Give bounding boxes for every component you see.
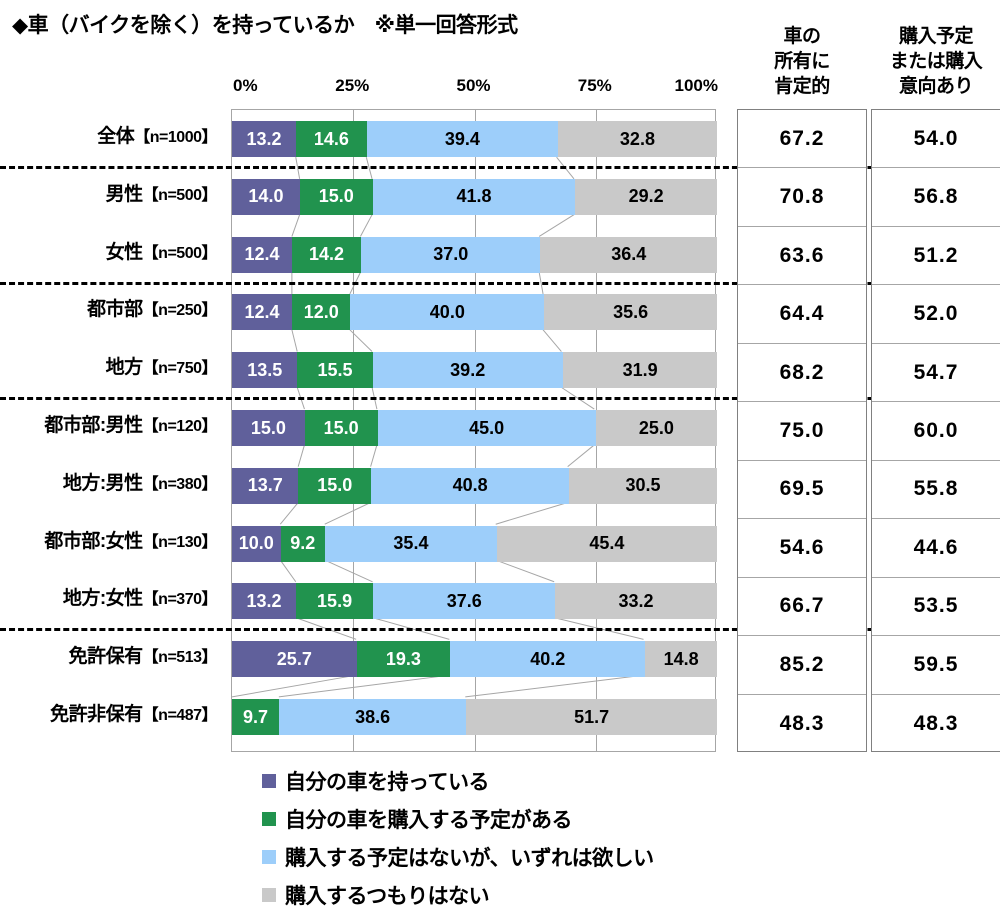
bar-segment: 13.7 <box>232 468 298 504</box>
bar-segment-value: 32.8 <box>620 129 655 150</box>
bar-segment: 9.2 <box>281 526 326 562</box>
value-cell-own-positive: 68.2 <box>738 344 866 402</box>
bar-segment: 13.2 <box>232 583 296 619</box>
value-table-own-positive: 67.270.863.664.468.275.069.554.666.785.2… <box>737 109 867 752</box>
bar-segment-value: 41.8 <box>456 186 491 207</box>
bar-segment: 45.0 <box>378 410 596 446</box>
bar-segment: 31.9 <box>563 352 718 388</box>
bar-segment: 10.0 <box>232 526 281 562</box>
value-cell-own-positive: 85.2 <box>738 636 866 694</box>
bar-row: 15.015.045.025.0 <box>232 410 717 446</box>
column-header-own-positive-line2: 所有に <box>737 49 867 74</box>
bar-segment-value: 15.0 <box>317 475 352 496</box>
bar-segment: 41.8 <box>373 179 576 215</box>
legend-item[interactable]: 購入するつもりはない <box>262 876 782 914</box>
value-cell-purchase-intent: 55.8 <box>872 461 1000 519</box>
value-cell-purchase-intent: 53.5 <box>872 578 1000 636</box>
value-cell-own-positive: 67.2 <box>738 110 866 168</box>
value-cell-purchase-intent: 60.0 <box>872 402 1000 460</box>
bar-segment-value: 9.2 <box>290 533 315 554</box>
bar-segment-value: 45.4 <box>589 533 624 554</box>
category-label: 男性【n=500】 <box>106 185 217 204</box>
legend: 自分の車を持っている自分の車を購入する予定がある購入する予定はないが、いずれは欲… <box>262 762 782 914</box>
bar-segment: 30.5 <box>569 468 717 504</box>
x-axis-tick-label: 100% <box>675 76 718 96</box>
legend-label: 自分の車を購入する予定がある <box>285 804 572 834</box>
page-title: ◆車（バイクを除く）を持っているか ※単一回答形式 <box>12 9 518 39</box>
bar-row: 10.09.235.445.4 <box>232 526 717 562</box>
value-cell-purchase-intent: 54.0 <box>872 110 1000 168</box>
bar-segment: 25.7 <box>232 641 357 677</box>
value-cell-own-positive: 48.3 <box>738 695 866 753</box>
bar-row: 12.414.237.036.4 <box>232 237 717 273</box>
bar-segment: 39.4 <box>367 121 558 157</box>
bar-segment: 32.8 <box>558 121 717 157</box>
bar-segment: 13.2 <box>232 121 296 157</box>
category-axis-labels: 全体【n=1000】男性【n=500】女性【n=500】都市部【n=250】地方… <box>0 109 225 752</box>
bar-row: 14.015.041.829.2 <box>232 179 717 215</box>
bar-segment-value: 29.2 <box>629 186 664 207</box>
bar-segment: 35.4 <box>325 526 497 562</box>
bar-segment-value: 14.2 <box>309 244 344 265</box>
value-cell-purchase-intent: 44.6 <box>872 519 1000 577</box>
value-table-purchase-intent: 54.056.851.252.054.760.055.844.653.559.5… <box>871 109 1000 752</box>
x-axis-tick-label: 0% <box>233 76 258 96</box>
bar-segment: 13.5 <box>232 352 297 388</box>
category-label: 免許保有【n=513】 <box>69 647 217 666</box>
legend-item[interactable]: 購入する予定はないが、いずれは欲しい <box>262 838 782 876</box>
bar-segment-value: 15.9 <box>317 591 352 612</box>
bar-segment: 40.8 <box>371 468 569 504</box>
bar-row: 13.715.040.830.5 <box>232 468 717 504</box>
column-header-own-positive: 車の 所有に 肯定的 <box>737 24 867 99</box>
bar-segment: 14.8 <box>645 641 717 677</box>
value-cell-own-positive: 63.6 <box>738 227 866 285</box>
bar-segment-value: 37.0 <box>433 244 468 265</box>
column-header-own-positive-line3: 肯定的 <box>737 74 867 99</box>
bar-row: 13.214.639.432.8 <box>232 121 717 157</box>
bar-segment-value: 9.7 <box>243 707 268 728</box>
column-header-purchase-intent-line2: または購入 <box>871 49 1000 74</box>
value-cell-own-positive: 64.4 <box>738 285 866 343</box>
bar-segment-value: 14.6 <box>314 129 349 150</box>
bar-segment-value: 45.0 <box>469 418 504 439</box>
bar-segment-value: 25.7 <box>277 649 312 670</box>
bar-segment-value: 13.2 <box>246 591 281 612</box>
category-label: 都市部【n=250】 <box>87 300 217 319</box>
bar-segment: 14.0 <box>232 179 300 215</box>
bar-segment: 36.4 <box>540 237 717 273</box>
column-header-purchase-intent: 購入予定 または購入 意向あり <box>871 24 1000 99</box>
bar-segment-value: 51.7 <box>574 707 609 728</box>
bar-segment-value: 31.9 <box>623 360 658 381</box>
bar-segment-value: 15.0 <box>319 186 354 207</box>
bar-segment: 12.4 <box>232 294 292 330</box>
bar-segment: 38.6 <box>279 699 466 735</box>
x-axis-tick-label: 75% <box>578 76 612 96</box>
category-label: 女性【n=500】 <box>106 243 217 262</box>
stacked-bar-plot-area: 13.214.639.432.814.015.041.829.212.414.2… <box>231 109 716 752</box>
value-cell-own-positive: 66.7 <box>738 578 866 636</box>
bar-segment-value: 13.7 <box>248 475 283 496</box>
bar-segment-value: 25.0 <box>639 418 674 439</box>
bar-segment: 15.9 <box>296 583 373 619</box>
bar-segment: 51.7 <box>466 699 717 735</box>
bar-segment-value: 15.5 <box>318 360 353 381</box>
bar-segment-value: 39.4 <box>445 129 480 150</box>
bar-segment-value: 12.4 <box>245 302 280 323</box>
bar-row: 12.412.040.035.6 <box>232 294 717 330</box>
bar-segment-value: 15.0 <box>324 418 359 439</box>
bar-segment: 15.0 <box>298 468 371 504</box>
bar-row: 13.515.539.231.9 <box>232 352 717 388</box>
bar-segment-value: 10.0 <box>239 533 274 554</box>
bar-segment-value: 14.0 <box>248 186 283 207</box>
bar-segment: 14.6 <box>296 121 367 157</box>
bar-segment-value: 39.2 <box>450 360 485 381</box>
legend-swatch-icon <box>262 812 276 826</box>
category-label: 全体【n=1000】 <box>97 127 217 146</box>
legend-swatch-icon <box>262 850 276 864</box>
bar-segment: 15.0 <box>305 410 378 446</box>
bar-segment-value: 33.2 <box>618 591 653 612</box>
bar-segment: 40.2 <box>450 641 645 677</box>
value-cell-purchase-intent: 48.3 <box>872 695 1000 753</box>
bar-segment-value: 35.6 <box>613 302 648 323</box>
bar-segment-value: 14.8 <box>664 649 699 670</box>
value-cell-purchase-intent: 52.0 <box>872 285 1000 343</box>
bar-segment-value: 35.4 <box>393 533 428 554</box>
bar-segment: 33.2 <box>555 583 716 619</box>
legend-item[interactable]: 自分の車を購入する予定がある <box>262 800 782 838</box>
legend-swatch-icon <box>262 774 276 788</box>
bar-segment: 37.6 <box>373 583 555 619</box>
column-header-purchase-intent-line1: 購入予定 <box>871 24 1000 49</box>
bar-segment: 35.6 <box>544 294 717 330</box>
column-header-own-positive-line1: 車の <box>737 24 867 49</box>
bar-segment: 15.0 <box>232 410 305 446</box>
value-cell-own-positive: 54.6 <box>738 519 866 577</box>
bar-segment: 15.5 <box>297 352 372 388</box>
x-axis-tick-label: 25% <box>335 76 369 96</box>
value-cell-purchase-intent: 51.2 <box>872 227 1000 285</box>
bar-segment: 15.0 <box>300 179 373 215</box>
bar-segment-value: 37.6 <box>447 591 482 612</box>
category-label: 地方:女性【n=370】 <box>63 589 217 608</box>
bar-segment: 19.3 <box>357 641 451 677</box>
bar-segment: 25.0 <box>596 410 717 446</box>
value-cell-purchase-intent: 59.5 <box>872 636 1000 694</box>
bar-segment-value: 12.4 <box>245 244 280 265</box>
legend-item[interactable]: 自分の車を持っている <box>262 762 782 800</box>
value-cell-purchase-intent: 54.7 <box>872 344 1000 402</box>
legend-label: 購入する予定はないが、いずれは欲しい <box>285 842 654 872</box>
bar-segment: 29.2 <box>575 179 717 215</box>
category-label: 都市部:男性【n=120】 <box>44 416 217 435</box>
category-label: 免許非保有【n=487】 <box>50 705 217 724</box>
bar-segment: 45.4 <box>497 526 717 562</box>
bar-segment: 37.0 <box>361 237 540 273</box>
bar-segment-value: 40.0 <box>430 302 465 323</box>
value-cell-purchase-intent: 56.8 <box>872 168 1000 226</box>
bar-segment-value: 15.0 <box>251 418 286 439</box>
bar-segment: 40.0 <box>350 294 544 330</box>
value-cell-own-positive: 70.8 <box>738 168 866 226</box>
category-label: 都市部:女性【n=130】 <box>44 532 217 551</box>
bar-segment: 12.4 <box>232 237 292 273</box>
bar-segment-value: 13.5 <box>247 360 282 381</box>
bar-row: 13.215.937.633.2 <box>232 583 717 619</box>
bar-segment: 9.7 <box>232 699 279 735</box>
value-cell-own-positive: 75.0 <box>738 402 866 460</box>
legend-swatch-icon <box>262 888 276 902</box>
value-cell-own-positive: 69.5 <box>738 461 866 519</box>
bar-segment-value: 38.6 <box>355 707 390 728</box>
bar-segment: 12.0 <box>292 294 350 330</box>
bar-segment-value: 40.2 <box>530 649 565 670</box>
bar-segment-value: 13.2 <box>246 129 281 150</box>
x-axis-tick-label: 50% <box>456 76 490 96</box>
bar-segment: 14.2 <box>292 237 361 273</box>
bar-segment-value: 30.5 <box>626 475 661 496</box>
bar-segment-value: 40.8 <box>453 475 488 496</box>
x-axis-tick-labels: 0%25%50%75%100% <box>231 76 716 98</box>
bar-row: 9.738.651.7 <box>232 699 717 735</box>
column-header-purchase-intent-line3: 意向あり <box>871 74 1000 99</box>
category-label: 地方【n=750】 <box>106 358 217 377</box>
legend-label: 購入するつもりはない <box>285 880 489 910</box>
bar-segment: 39.2 <box>373 352 563 388</box>
bar-segment-value: 36.4 <box>611 244 646 265</box>
bar-segment-value: 19.3 <box>386 649 421 670</box>
legend-label: 自分の車を持っている <box>285 766 489 796</box>
bar-segment-value: 12.0 <box>304 302 339 323</box>
bar-row: 25.719.340.214.8 <box>232 641 717 677</box>
category-label: 地方:男性【n=380】 <box>63 474 217 493</box>
